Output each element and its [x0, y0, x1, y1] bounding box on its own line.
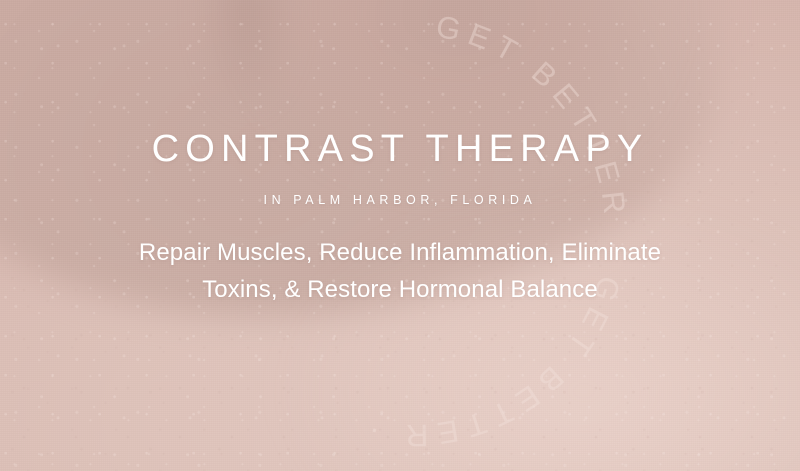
hero-description-line-2: Toxins, & Restore Hormonal Balance	[139, 271, 661, 309]
contrast-therapy-hero-banner: GET BETTER · GET BETTER · CONTRAST THERA…	[0, 0, 800, 471]
hero-content: CONTRAST THERAPY IN PALM HARBOR, FLORIDA…	[0, 0, 800, 471]
page-title: CONTRAST THERAPY	[152, 128, 649, 171]
hero-description: Repair Muscles, Reduce Inflammation, Eli…	[139, 234, 661, 310]
hero-description-line-1: Repair Muscles, Reduce Inflammation, Eli…	[139, 234, 661, 272]
location-subtitle: IN PALM HARBOR, FLORIDA	[264, 193, 537, 208]
